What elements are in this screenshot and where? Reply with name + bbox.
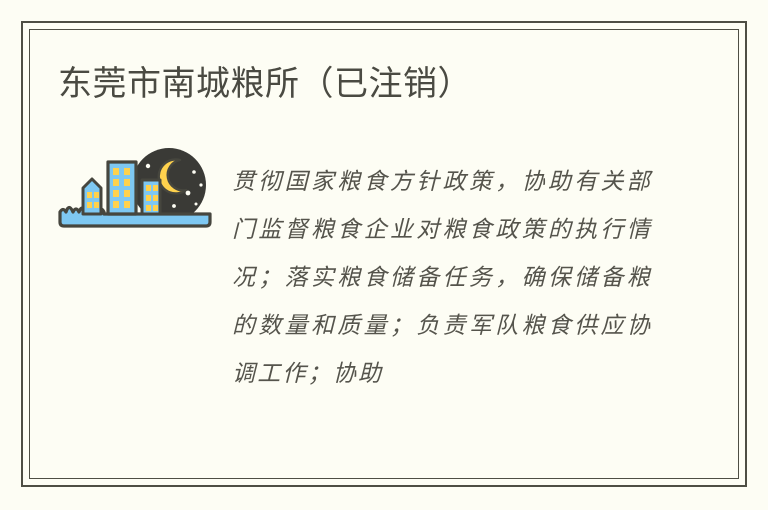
page-title: 东莞市南城粮所（已注销） xyxy=(58,61,472,107)
page-root: 东莞市南城粮所（已注销） xyxy=(0,0,768,510)
night-cityscape-icon xyxy=(56,142,214,230)
card-content: 东莞市南城粮所（已注销） xyxy=(0,0,768,510)
card-body-text: 贯彻国家粮食方针政策，协助有关部门监督粮食企业对粮食政策的执行情况；落实粮食储备… xyxy=(232,158,652,398)
